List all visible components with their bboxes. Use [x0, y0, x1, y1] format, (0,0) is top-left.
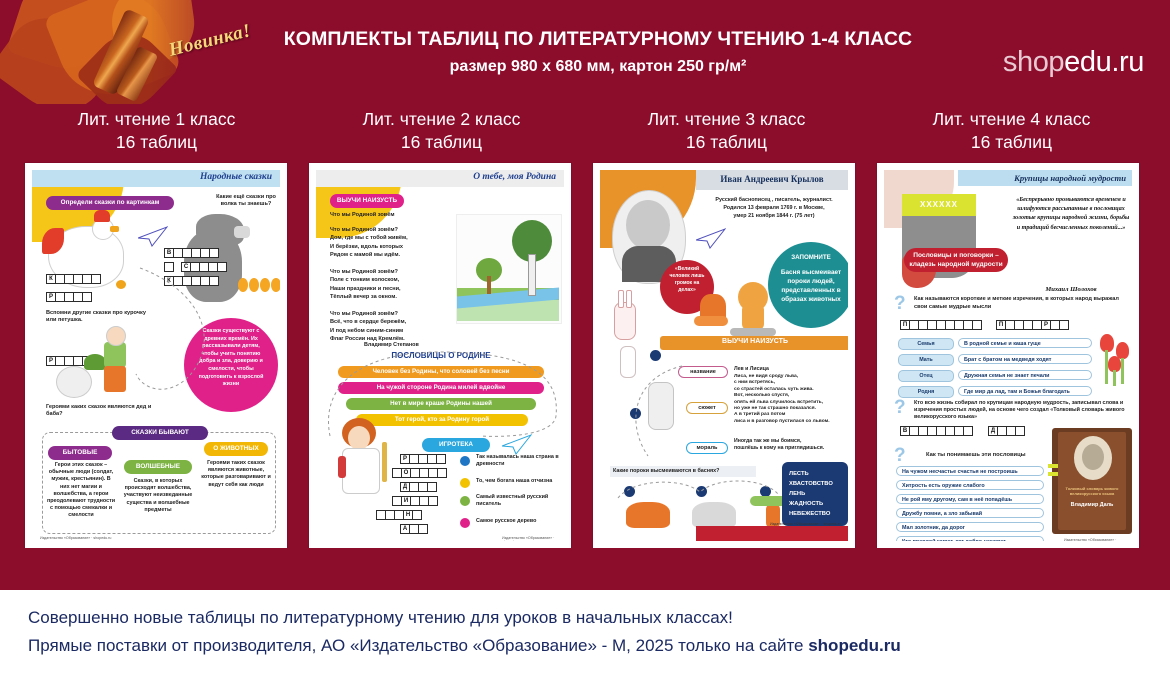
crossword-cell [82, 292, 92, 302]
pair-key-2: Мать [898, 354, 954, 366]
crossword-cell [209, 248, 219, 258]
column-count-text: 16 таблиц [299, 131, 584, 154]
poster3-header-bar: Иван Андреевич Крылов [696, 170, 848, 190]
remember-title: ЗАПОМНИТЕ [772, 254, 848, 261]
proverb-item-1: На чужом несчастье счастья не построишь [896, 466, 1044, 476]
header-title-block: КОМПЛЕКТЫ ТАБЛИЦ ПО ЛИТЕРАТУРНОМУ ЧТЕНИЮ… [268, 28, 928, 76]
crossword-row[interactable]: И [392, 496, 437, 506]
answer-cells-1[interactable]: П [900, 320, 981, 330]
hare-icon [614, 302, 636, 340]
type-pill-zhivotnye: О ЖИВОТНЫХ [204, 442, 268, 456]
remember-text: Басня высмеивает пороки людей, представл… [776, 268, 846, 304]
proverb-item-3: Не рой яму другому, сам в неё попадёшь [896, 494, 1044, 504]
footer-line-2: Прямые поставки от производителя, АО «Из… [0, 632, 1170, 660]
chick-icon [260, 278, 270, 292]
birch-trunk-icon [528, 254, 536, 296]
page-subtitle: размер 980 х 680 мм, картон 250 гр/м² [268, 58, 928, 76]
shlokhov-quote-author: Михаил Шолохов [1012, 286, 1130, 293]
question-mark-icon: ? [894, 398, 906, 417]
crossword-row[interactable]: Р [46, 292, 91, 302]
vices-list: ЛЕСТЬХВАСТОВСТВОЛЕНЬЖАДНОСТЬНЕВЕЖЕСТВО [789, 469, 833, 519]
dal-face-icon [1082, 444, 1104, 470]
poster1-credits: Издательство «Образование» · shopedu.ru [40, 536, 111, 540]
answer-cells-3[interactable]: В [900, 426, 972, 436]
footer-line-2-text: Прямые поставки от производителя, АО «Из… [28, 636, 808, 655]
dashed-path [622, 360, 688, 470]
page-footer: Совершенно новые таблицы по литературном… [0, 590, 1170, 674]
book-title: Толковый словарь живого великорусского я… [1064, 486, 1120, 496]
crossword-cell [418, 524, 428, 534]
dashed-path [614, 476, 784, 504]
crossword-cell [437, 468, 447, 478]
pair-key-3: Отец [898, 370, 954, 382]
book-author: Владимир Даль [1064, 502, 1120, 508]
footer-line-1: Совершенно новые таблицы по литературном… [0, 590, 1170, 632]
red-corner-decoration [696, 526, 848, 541]
brand-logo-light: shop [1003, 46, 1064, 78]
crossword-cell [412, 510, 422, 520]
poem-text: Что мы Родиной зовём?Дом, где мы с тобой… [330, 226, 450, 344]
clue-marker-4 [460, 518, 470, 528]
learn-title-bar: ВЫУЧИ НАИЗУСТЬ [660, 336, 848, 350]
shlokhov-quote: «Беспрерывно промываются временем и шлиф… [1012, 196, 1130, 233]
column-count-text: 16 таблиц [14, 131, 299, 154]
sock-cuff-icon: XXXXXX [902, 194, 976, 216]
answer-cells-4[interactable]: Д [988, 426, 1024, 436]
learn-title: ВЫУЧИ НАИЗУСТЬ [660, 338, 848, 345]
crossword-row[interactable]: К [46, 274, 100, 284]
poster2-task-pill: ВЫУЧИ НАИЗУСТЬ [330, 194, 404, 208]
crossword-cell [427, 482, 437, 492]
question-3-text: Как ты понимаешь эти пословицы [926, 452, 1056, 459]
column-title-text: Лит. чтение 3 класс [584, 108, 869, 131]
wolf-muzzle-icon [234, 226, 250, 238]
crossword-cell [436, 454, 446, 464]
poster4-header-bar: Крупицы народной мудрости [958, 170, 1132, 186]
column-count-text: 16 таблиц [584, 131, 869, 154]
poster3-credits: Издательство «Образование» · shopedu.ru [770, 522, 841, 526]
chick-icon [238, 278, 248, 292]
poster3-title: Иван Андреевич Крылов [696, 174, 848, 184]
hare-ear-icon [618, 290, 624, 308]
paper-plane-icon [138, 226, 168, 248]
pair-key-4: Родня [898, 386, 954, 398]
poster2-header-bar: О тебе, моя Родина [316, 170, 564, 187]
type-desc-volshebnye: Сказки, в которых происходят волшебства,… [120, 478, 196, 514]
girl-dress-icon [342, 448, 380, 494]
poster-card-grade4[interactable]: Крупицы народной мудрости XXXXXX Послови… [877, 163, 1139, 548]
poster-card-grade1[interactable]: Народные сказки Определи сказки по карти… [25, 163, 287, 548]
column-title-1: Лит. чтение 1 класс 16 таблиц [14, 108, 299, 154]
crossword-cell [428, 496, 438, 506]
column-title-3: Лит. чтение 3 класс 16 таблиц [584, 108, 869, 154]
crossword-cell [963, 426, 973, 436]
paper-plane-icon [502, 434, 532, 456]
footer-brand: shopedu.ru [808, 636, 901, 655]
game-title-pill: ИГРОТЕКА [422, 438, 490, 452]
fable-part-label-moral: мораль [686, 442, 728, 454]
poster-card-grade3[interactable]: Иван Андреевич Крылов Русский баснописец… [593, 163, 855, 548]
chick-icon [271, 278, 280, 292]
brand-logo: shopedu.ru [1003, 46, 1144, 79]
crossword-row[interactable]: В [164, 248, 218, 258]
lion-body-icon [742, 304, 764, 330]
girl-face-icon [348, 426, 370, 450]
pair-text-4: Где мир да лад, там и Божья благодать [958, 386, 1092, 396]
fable-part-text-name: Лев и Лисица [734, 366, 844, 373]
tree-trunk-icon [487, 276, 491, 294]
fable-part-text-plot: Лиса, не видя сроду льва, с ним встретяс… [734, 374, 846, 425]
poster-card-grade2[interactable]: О тебе, моя Родина ВЫУЧИ НАИЗУСТЬ Что мы… [309, 163, 571, 548]
krylov-face-icon [626, 200, 670, 250]
dashed-path [124, 262, 234, 412]
poster2-credits: Издательство «Образование» · shopedu.ru [502, 536, 564, 541]
page-title: КОМПЛЕКТЫ ТАБЛИЦ ПО ЛИТЕРАТУРНОМУ ЧТЕНИЮ… [268, 28, 928, 51]
crossword-cell [91, 274, 101, 284]
fable-part-text-moral: Иногда так же мы боимся, пошлёшь к кому … [734, 438, 844, 452]
types-title-pill: СКАЗКИ БЫВАЮТ [112, 426, 208, 440]
poster4-title: Крупицы народной мудрости [1014, 173, 1126, 183]
hen-comb-icon [94, 210, 110, 222]
crossword-cell [1015, 426, 1025, 436]
column-count-text: 16 таблиц [869, 131, 1154, 154]
sock-label: Пословицы и поговорки – кладезь народной… [904, 248, 1008, 272]
proverb-item-5: Мал золотник, да дорог [896, 522, 1044, 532]
fable-part-label-plot: сюжет [686, 402, 728, 414]
tulip-stem-icon [1105, 350, 1108, 384]
column-title-2: Лит. чтение 2 класс 16 таблиц [299, 108, 584, 154]
krylov-bio: Русский баснописец , писатель, журналист… [700, 196, 848, 220]
answer-cells-2[interactable]: ПР [996, 320, 1068, 330]
poster1-title: Народные сказки [200, 172, 272, 182]
pair-text-2: Брат с братом на медведя ходят [958, 354, 1092, 364]
question-2-text: Кто всю жизнь собирал по крупицам народн… [914, 400, 1126, 422]
hen-beak-icon [110, 226, 119, 232]
tulip-stem-icon [1121, 358, 1124, 384]
crossword-row[interactable]: О [392, 468, 446, 478]
type-desc-bytovye: Герои этих сказок – обычные люди (солдат… [46, 462, 116, 520]
column-title-text: Лит. чтение 2 класс [299, 108, 584, 131]
girl-bag-icon [338, 456, 346, 478]
grandfather-head-icon [106, 326, 126, 346]
proverb-item-6: Кто правдой живет, тот добро наживет [896, 536, 1044, 541]
page-header: Новинка! КОМПЛЕКТЫ ТАБЛИЦ ПО ЛИТЕРАТУРНО… [0, 0, 1170, 104]
type-pill-volshebnye: ВОЛШЕБНЫЕ [124, 460, 192, 474]
grandfather-trousers-icon [104, 366, 126, 392]
brand-logo-bold: edu.ru [1064, 46, 1144, 78]
promo-page: Новинка! КОМПЛЕКТЫ ТАБЛИЦ ПО ЛИТЕРАТУРНО… [0, 0, 1170, 674]
question-1-text: Как называются короткие и меткие изречен… [914, 296, 1128, 311]
question-mark-icon: ? [894, 294, 906, 313]
divider-rule [0, 584, 1170, 588]
poster1-wolf-question: Какие ещё сказки про волка ты знаешь? [210, 194, 280, 208]
column-titles: Лит. чтение 1 класс 16 таблиц Лит. чтени… [0, 108, 1170, 160]
wolf-icon [692, 502, 736, 528]
clue-marker-1 [460, 456, 470, 466]
column-title-text: Лит. чтение 4 класс [869, 108, 1154, 131]
bookmark-icon [1048, 472, 1058, 476]
sock-pattern: XXXXXX [902, 200, 976, 209]
poem-title: Что мы Родиной зовём [330, 212, 450, 219]
clue-text-4: Самое русское дерево [476, 518, 562, 525]
turnip-icon [56, 366, 92, 398]
crossword-row[interactable]: Р [400, 454, 445, 464]
clue-text-1: Так называлась наша страна в древности [476, 454, 562, 468]
poster4-credits: Издательство «Образование» · shopedu.ru [1064, 538, 1132, 541]
pair-key-1: Семья [898, 338, 954, 350]
clue-marker-3 [460, 496, 470, 506]
fox-icon [626, 502, 670, 528]
crossword-row[interactable]: Д [400, 482, 436, 492]
proverb-item-2: Хитрость есть оружие слабого [896, 480, 1044, 490]
chick-icon [249, 278, 259, 292]
column-title-text: Лит. чтение 1 класс [14, 108, 299, 131]
column-title-4: Лит. чтение 4 класс 16 таблиц [869, 108, 1154, 154]
paper-plane-icon [696, 228, 726, 250]
turnip-leaves-icon [84, 354, 106, 370]
pair-text-3: Дружная семья не знает печали [958, 370, 1092, 380]
type-pill-bytovye: БЫТОВЫЕ [48, 446, 112, 460]
rock-icon [730, 328, 776, 336]
crossword-row[interactable]: Н [376, 510, 421, 520]
hare-ear-icon [626, 290, 632, 308]
crossword-cell [1059, 320, 1069, 330]
pair-text-1: В родной семье и каша гуще [958, 338, 1092, 348]
clue-text-2: То, чем богата наша отчизна [476, 478, 562, 485]
crossword-row[interactable]: А [400, 524, 427, 534]
clue-text-3: Самый известный русский писатель [476, 494, 562, 508]
poster1-task-pill: Определи сказки по картинкам [46, 196, 174, 210]
lower-maroon-band [0, 548, 1170, 586]
proverb-item-4: Дружбу помни, а зло забывай [896, 508, 1044, 518]
vices-box: ЛЕСТЬХВАСТОВСТВОЛЕНЬЖАДНОСТЬНЕВЕЖЕСТВО [782, 462, 848, 526]
wheat-icon [382, 442, 387, 482]
poster2-title: О тебе, моя Родина [473, 172, 556, 182]
clue-marker-2 [460, 478, 470, 488]
question-mark-icon: ? [894, 446, 906, 465]
poster1-header-bar: Народные сказки [32, 170, 280, 187]
type-desc-zhivotnye: Героями таких сказок являются животные, … [200, 460, 272, 489]
poster1-grandparents-question: Героями каких сказок являются дед и баба… [46, 404, 156, 418]
crossword-cell [972, 320, 982, 330]
remember-circle: ЗАПОМНИТЕ Басня высмеивает пороки людей,… [768, 242, 848, 328]
tulip-stem-icon [1113, 370, 1116, 386]
bookmark-icon [1048, 464, 1058, 468]
poster-gallery: Народные сказки Определи сказки по карти… [0, 163, 1170, 548]
fox-tail-icon [694, 316, 728, 326]
